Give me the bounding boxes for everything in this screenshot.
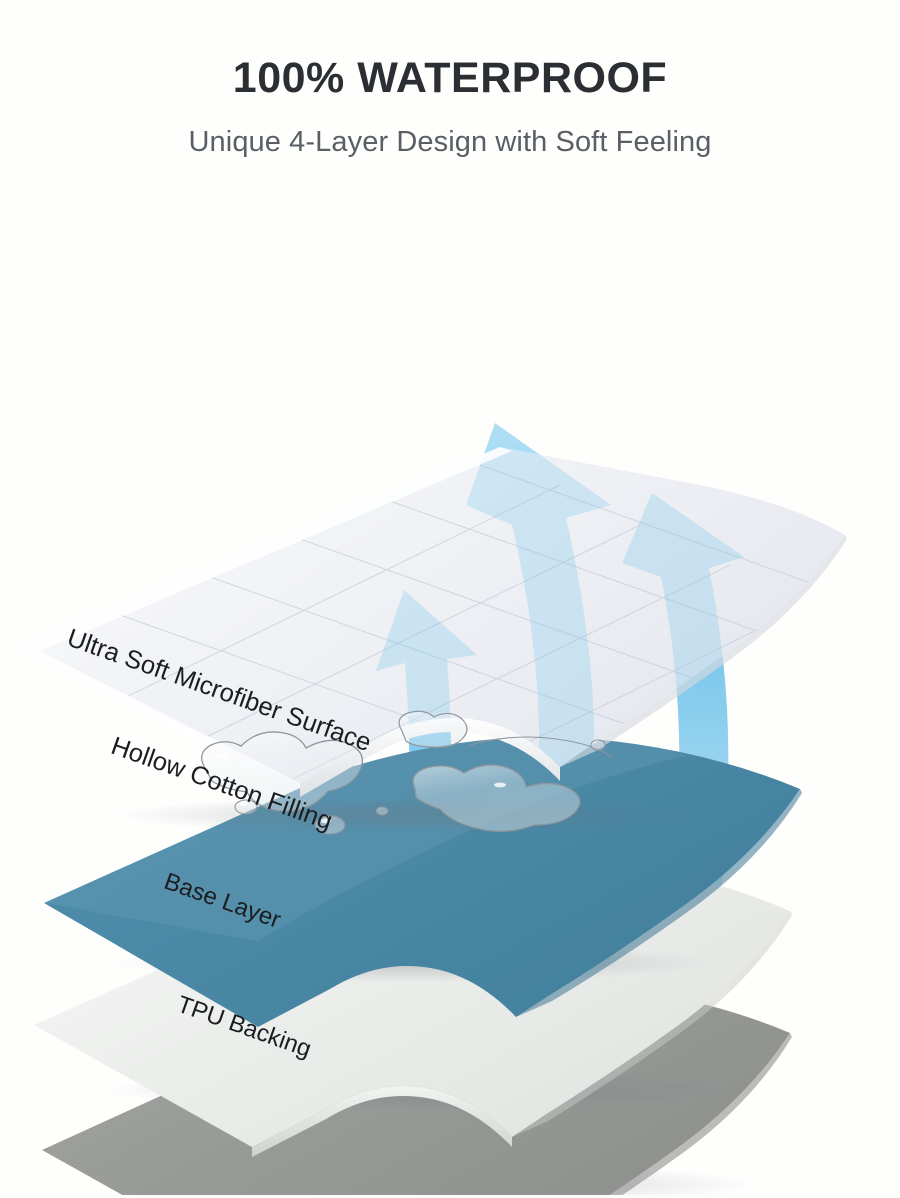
layer-stack-svg [0,185,900,1195]
page-subtitle: Unique 4-Layer Design with Soft Feeling [0,127,900,159]
water-puddle-mid [399,711,467,747]
infographic-canvas: 100% WATERPROOF Unique 4-Layer Design wi… [0,0,900,1198]
water-bead [376,807,388,815]
water-bead [235,800,257,814]
layer-stack-illustration: Ultra Soft Microfiber Surface Hollow Cot… [0,185,900,1195]
page-title: 100% WATERPROOF [0,56,900,101]
water-bead [591,740,605,750]
header-block: 100% WATERPROOF Unique 4-Layer Design wi… [0,0,900,159]
water-bead [315,816,345,834]
